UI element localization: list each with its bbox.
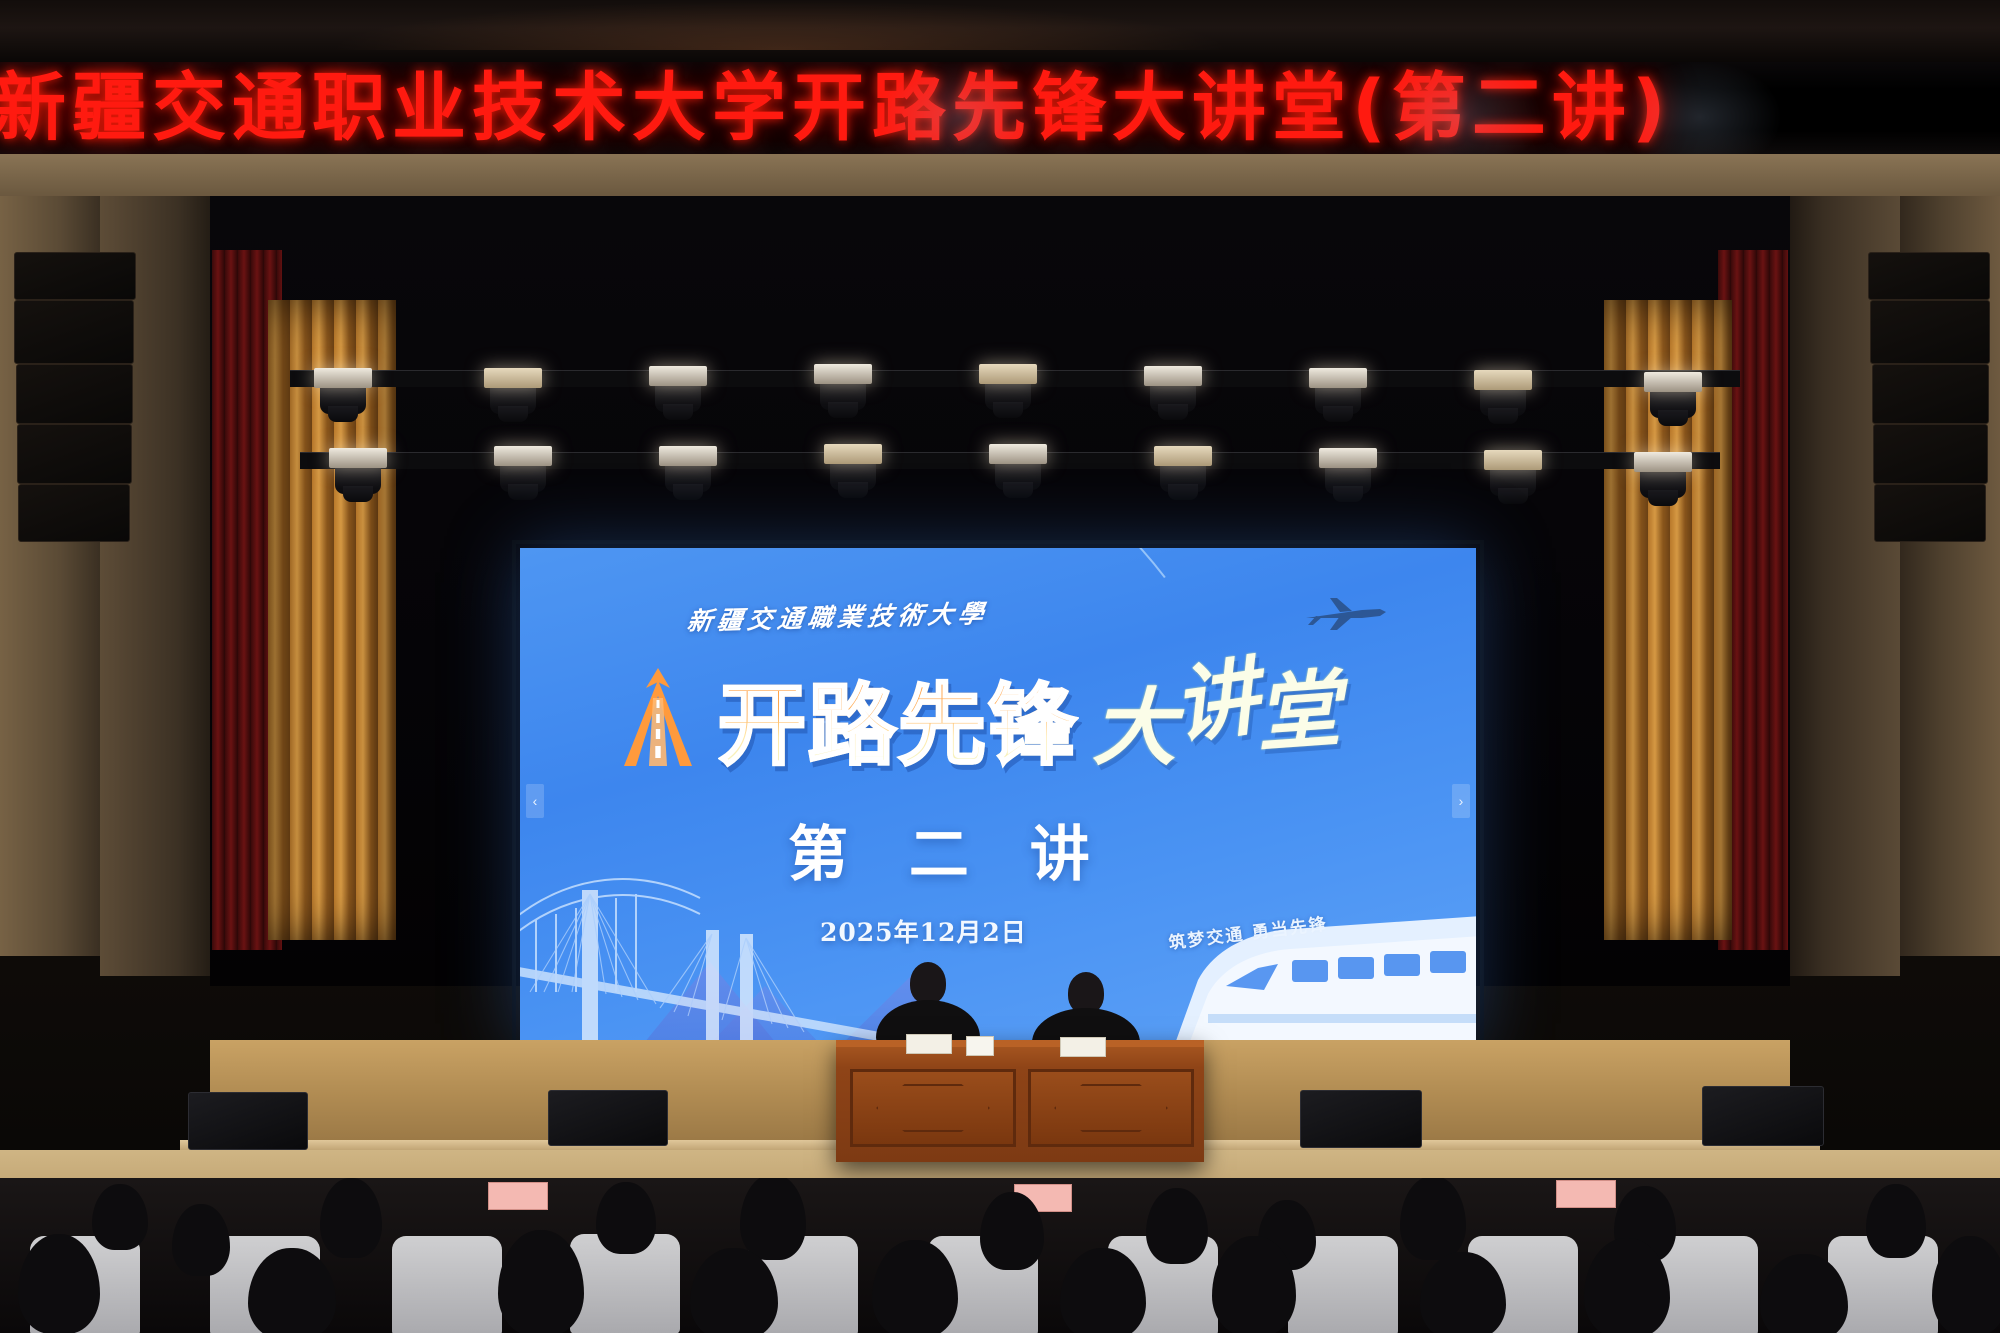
stage-light-lit [329, 448, 387, 468]
screen-prev-arrow[interactable]: ‹ [526, 784, 544, 818]
high-speed-train-graphic [1152, 902, 1476, 1048]
speaker-stack-right [1874, 484, 1986, 542]
tissue-box [966, 1036, 994, 1056]
speaker-stack-left [18, 484, 130, 542]
screen-subtitle: 第 二 讲 [788, 806, 1110, 893]
audience-member [92, 1184, 148, 1250]
stage-light-lit [1484, 450, 1542, 470]
stage-light-lit [494, 446, 552, 466]
speaker-stack-left [14, 252, 136, 300]
stage-light-lit [1144, 366, 1202, 386]
name-card-right [1060, 1037, 1106, 1057]
stage-light-lit [649, 366, 707, 386]
screen-title-calligraphy: 大讲堂 [1092, 686, 1338, 770]
banner-haze [1380, 62, 1540, 154]
name-card-left [906, 1034, 952, 1054]
screen-next-arrow[interactable]: › [1452, 784, 1470, 818]
banner-haze [880, 62, 1040, 154]
speaker-stack-right [1870, 300, 1990, 364]
stage-light-lit [314, 368, 372, 388]
stage-light-lit [1474, 370, 1532, 390]
banner-haze [1620, 62, 1780, 154]
audience-placard [488, 1182, 548, 1210]
stage-light-lit [1154, 446, 1212, 466]
stage-light-lit [1634, 452, 1692, 472]
audience-member [1400, 1178, 1466, 1260]
speaker-stack-left [14, 300, 134, 364]
stage-light-lit [1644, 372, 1702, 392]
speaker-stack-left [17, 424, 132, 484]
wall-cornice [0, 154, 2000, 196]
speaker-stack-left [16, 364, 133, 424]
screen-date: 2025年12月2日 [820, 913, 1027, 949]
stage-light-lit [1319, 448, 1377, 468]
audience-placard [1556, 1180, 1616, 1208]
audience-area [0, 1178, 2000, 1333]
speaker-stack-right [1873, 424, 1988, 484]
road-perspective-icon [612, 666, 704, 770]
calli-char-da: 大 [1092, 678, 1174, 777]
stage-light-lit [989, 444, 1047, 464]
stage-light-lit [1309, 368, 1367, 388]
conference-table [836, 1040, 1204, 1162]
stage-monitor [188, 1092, 308, 1150]
stage-light-lit [814, 364, 872, 384]
auditorium-scene: 新疆交通职业技术大学开路先锋大讲堂(第二讲) [0, 0, 2000, 1333]
ceiling-glow [330, 0, 1230, 50]
table-panel-diamond [876, 1084, 990, 1132]
speaker-stack-right [1868, 252, 1990, 300]
calli-char-jiang: 讲 [1169, 655, 1262, 750]
stage-light-lit [659, 446, 717, 466]
speaker-stack-right [1872, 364, 1989, 424]
presenter-left-head [910, 962, 946, 1004]
led-screen: 新疆交通職業技術大學 开路先锋 大讲堂 第 二 讲 [520, 548, 1476, 1048]
screen-title-main: 开路先锋 [718, 682, 1078, 770]
stage-monitor [548, 1090, 668, 1146]
stage-monitor [1702, 1086, 1824, 1146]
calli-char-tang: 堂 [1253, 667, 1341, 757]
stage-monitor [1300, 1090, 1422, 1148]
airplane-icon [1300, 596, 1390, 636]
seat [392, 1236, 502, 1333]
stage-light-lit [484, 368, 542, 388]
stage-light-lit [824, 444, 882, 464]
stage-light-lit [979, 364, 1037, 384]
screen-logo: 开路先锋 大讲堂 [612, 666, 1338, 770]
led-banner: 新疆交通职业技术大学开路先锋大讲堂(第二讲) [0, 62, 2000, 154]
audience-member [740, 1178, 806, 1260]
table-panel-diamond [1054, 1084, 1168, 1132]
